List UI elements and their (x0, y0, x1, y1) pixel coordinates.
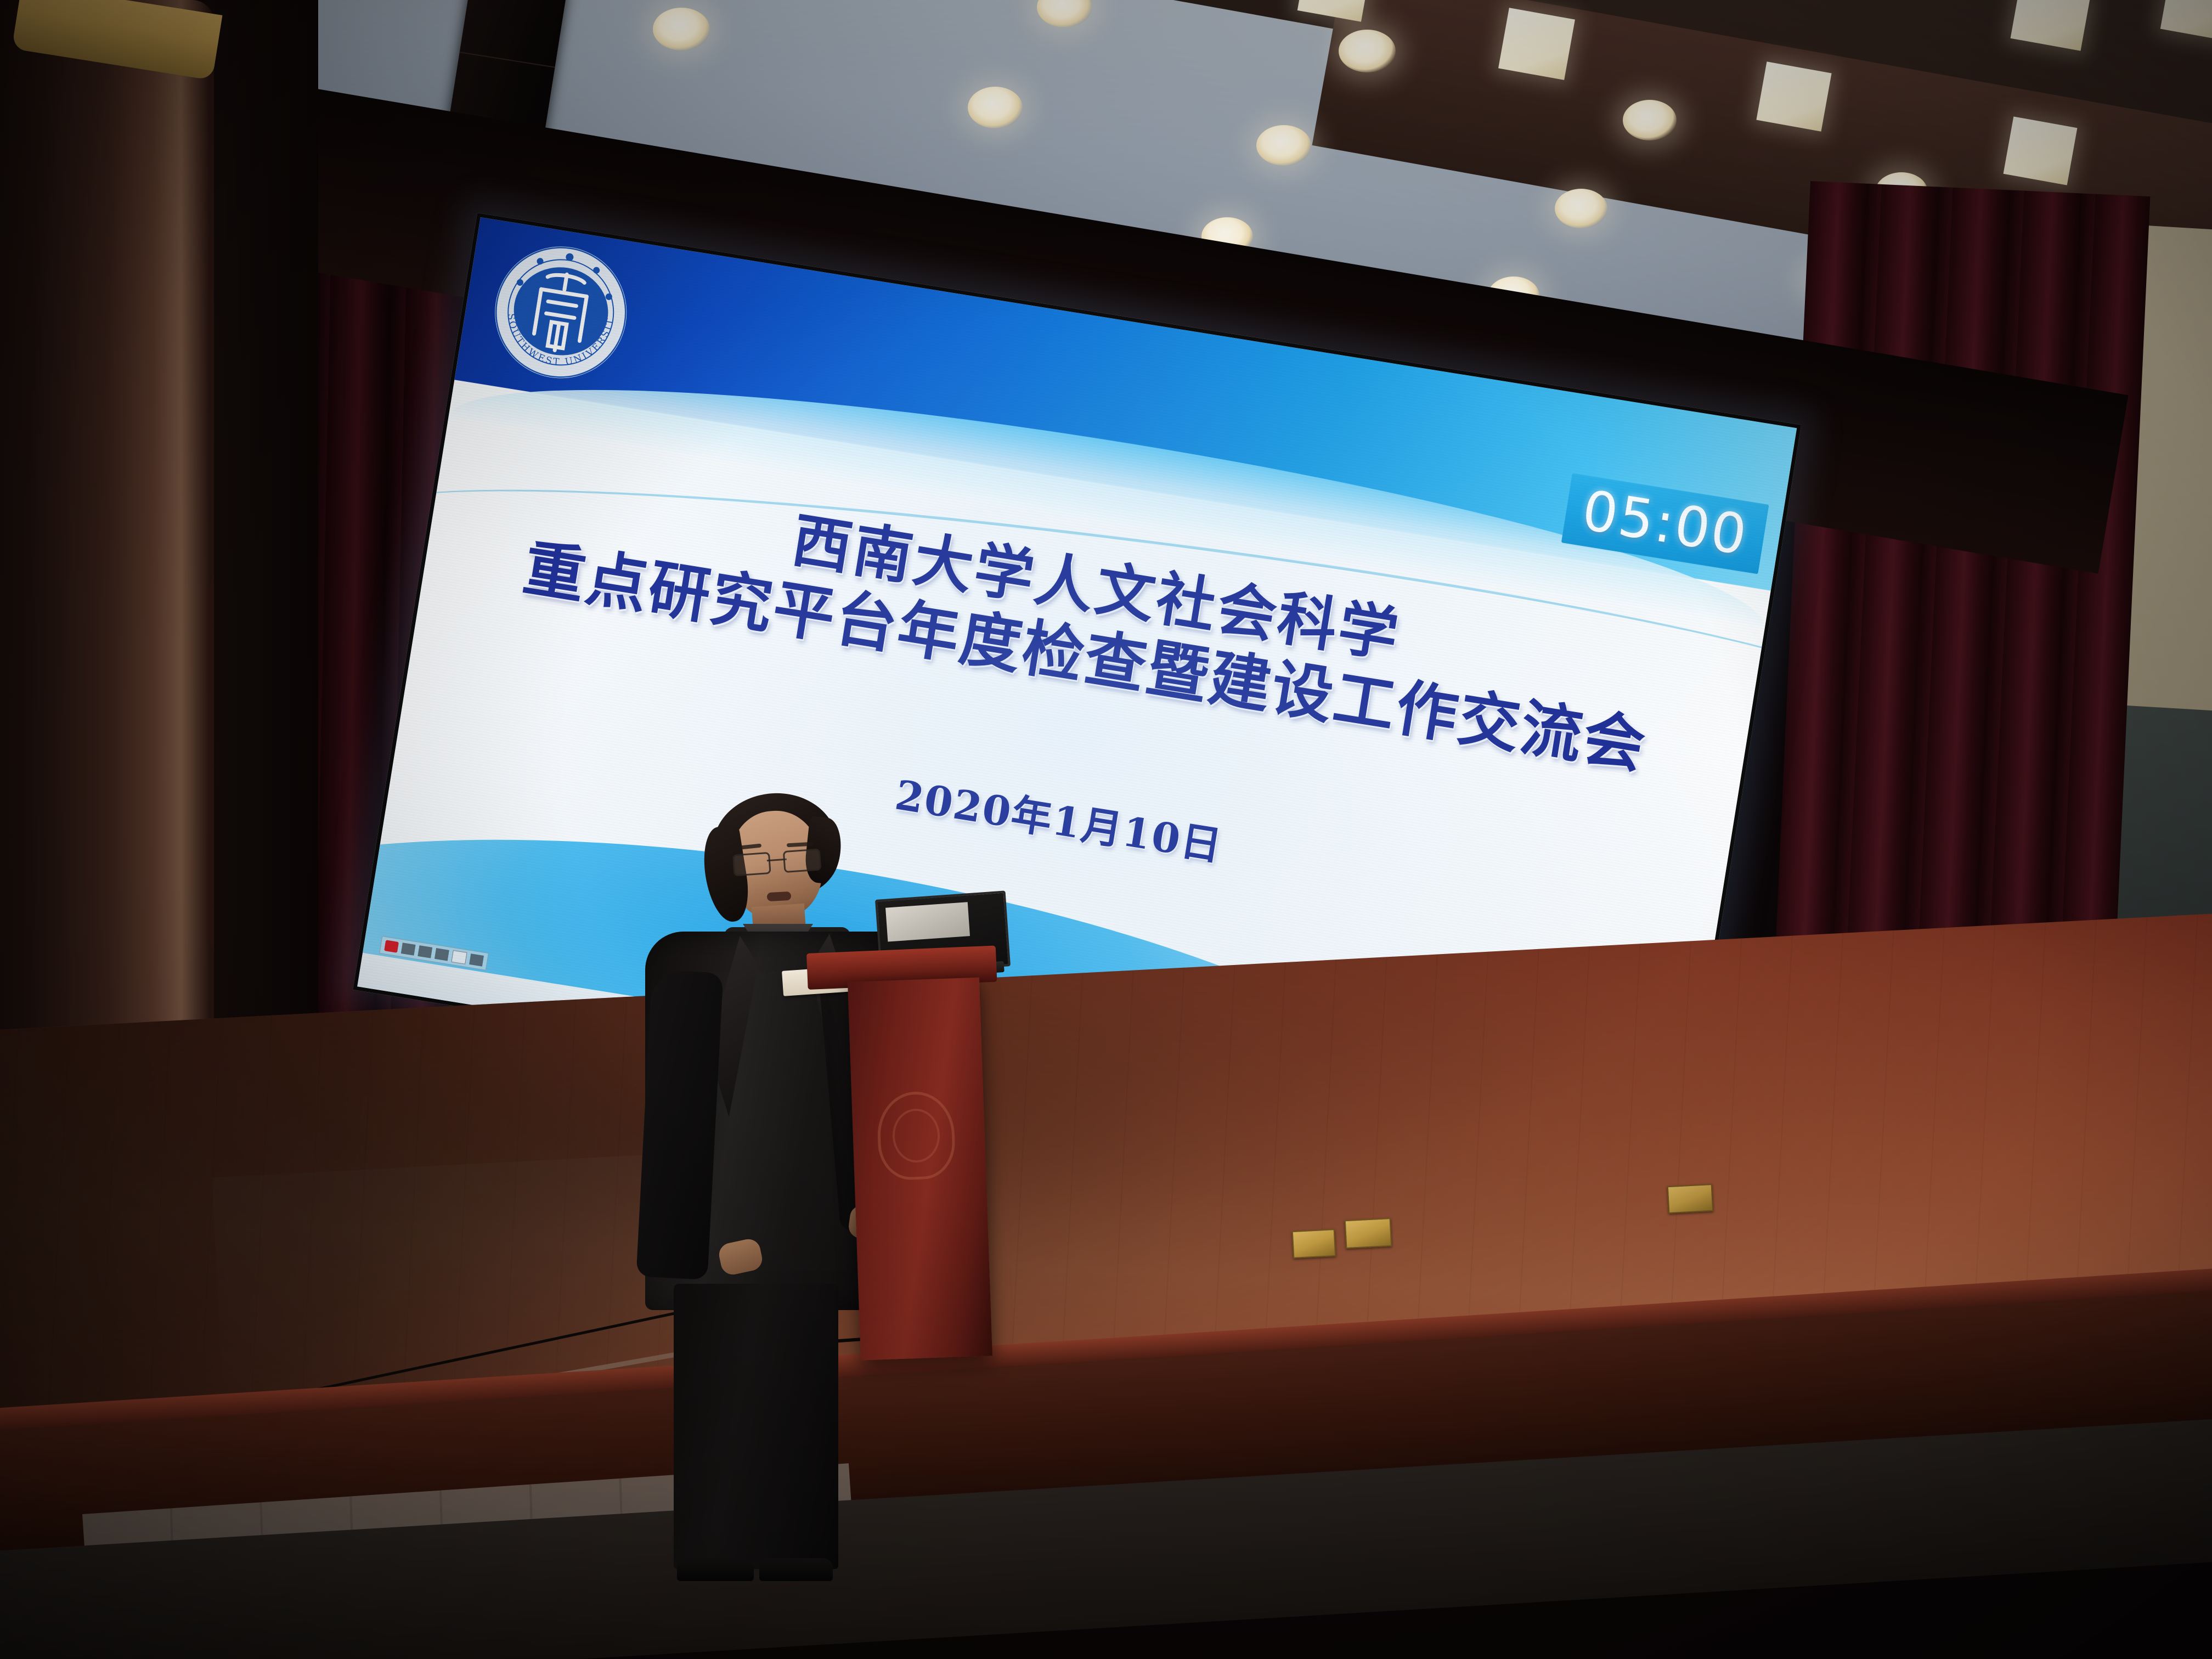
floor-outlet-cover (1345, 1218, 1392, 1249)
panel-light-icon (2004, 116, 2078, 185)
taskbar-app-icon[interactable] (469, 953, 484, 967)
downlight-icon (1623, 100, 1677, 140)
taskbar-app-icon[interactable] (451, 950, 467, 964)
glasses-lens-right (783, 848, 822, 873)
downlight-icon (1339, 30, 1396, 72)
downlight-icon (1555, 189, 1607, 228)
presenter-legs (674, 1284, 838, 1569)
taskbar-app-icon[interactable] (401, 943, 416, 956)
taskbar-app-icon[interactable] (435, 948, 449, 961)
downlight-icon (653, 8, 710, 50)
start-button-icon[interactable] (384, 940, 399, 953)
monitor-screen (885, 902, 970, 941)
presenter-shoe (677, 1558, 754, 1581)
southwest-university-emblem-icon: SOUTHWEST UNIVERSITY (482, 233, 640, 392)
downlight-icon (968, 87, 1023, 128)
presenter-mouth (767, 891, 792, 901)
taskbar-app-icon[interactable] (417, 945, 432, 958)
panel-light-icon (1756, 61, 1831, 132)
panel-light-icon (1498, 8, 1575, 80)
floor-outlet-cover (1667, 1184, 1714, 1214)
conference-hall-photo: 123 (0, 0, 2212, 1659)
presenter-shoe (759, 1558, 833, 1581)
glasses-lens-left (732, 852, 771, 877)
floor-outlet-cover (1292, 1229, 1336, 1259)
downlight-icon (1256, 125, 1311, 166)
